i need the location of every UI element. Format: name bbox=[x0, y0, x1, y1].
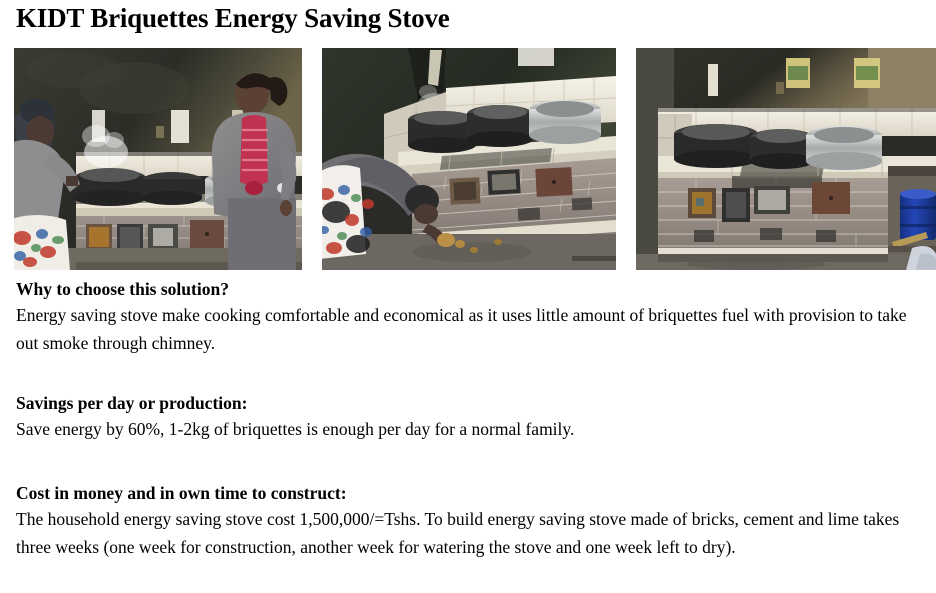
section-body: Energy saving stove make cooking comfort… bbox=[16, 301, 920, 357]
section-body: Save energy by 60%, 1-2kg of briquettes … bbox=[16, 415, 920, 443]
section-heading: Savings per day or production: bbox=[16, 392, 920, 415]
section-heading: Why to choose this solution? bbox=[16, 278, 920, 301]
document-page: KIDT Briquettes Energy Saving Stove bbox=[0, 0, 936, 593]
photo-woman-cooking-on-stove bbox=[14, 48, 302, 270]
section-cost-and-time: Cost in money and in own time to constru… bbox=[16, 482, 920, 561]
page-title: KIDT Briquettes Energy Saving Stove bbox=[16, 2, 450, 34]
section-why-to-choose: Why to choose this solution? Energy savi… bbox=[16, 278, 920, 357]
photo-strip bbox=[14, 48, 936, 270]
section-savings-per-day: Savings per day or production: Save ener… bbox=[16, 392, 920, 443]
photo-stove-full-view bbox=[636, 48, 936, 270]
photo-loading-briquettes bbox=[322, 48, 616, 270]
section-heading: Cost in money and in own time to constru… bbox=[16, 482, 920, 505]
section-body: The household energy saving stove cost 1… bbox=[16, 505, 920, 561]
